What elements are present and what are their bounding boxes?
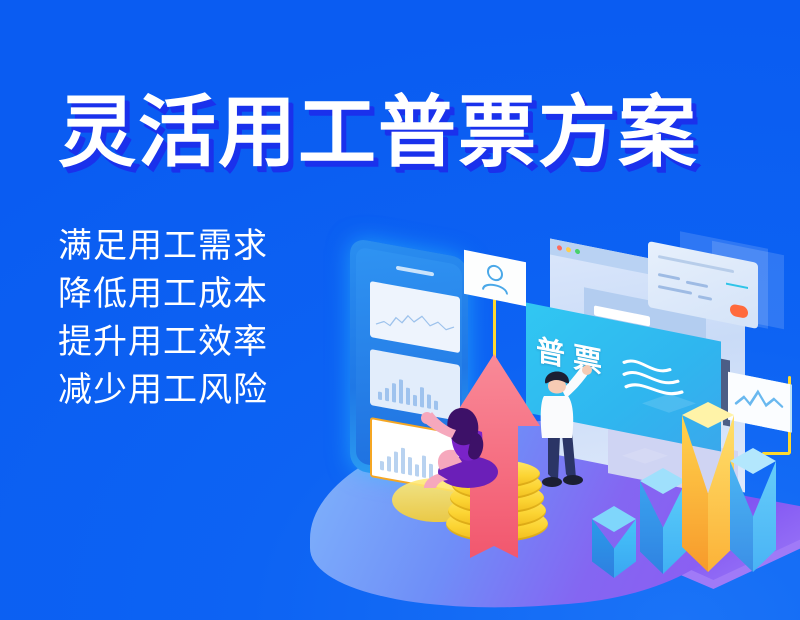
user-card [464,250,526,306]
credit-card-stripe [726,283,748,289]
isometric-illustration: 普票 [250,230,800,620]
line-chart-icon [376,304,454,344]
credit-card-line [658,255,734,273]
subtitle-line-1: 满足用工需求 [58,222,268,270]
credit-card-chip [730,303,748,319]
iso-bar-1 [592,506,636,578]
page-title: 灵活用工普票方案 [58,88,698,176]
subtitle-line-4: 减少用工风险 [58,366,268,414]
iso-bar-left [730,461,753,572]
subtitle-line-2: 降低用工成本 [58,270,268,318]
credit-card-line [698,295,712,301]
browser-close-dot [557,245,562,251]
person-standing-icon [532,360,590,490]
browser-minimize-dot [566,247,571,253]
iso-bar-4 [730,448,776,572]
iso-bar-left [682,415,708,572]
iso-bar-top [682,402,734,428]
iso-bar-right [753,461,776,572]
credit-card-line [658,273,680,280]
phone-speaker [396,266,434,277]
phone-card-line-chart [370,281,460,353]
iso-bar-3 [682,402,734,572]
iso-bar-top [730,448,776,474]
iso-bar-left [640,481,663,574]
credit-card-line [686,281,708,288]
iso-bar-2 [640,468,686,574]
user-icon [464,250,526,306]
browser-maximize-dot [575,249,580,255]
person-sitting-icon [422,398,508,494]
iso-bar-top [640,468,686,494]
credit-card-line [658,285,692,295]
subtitle-list: 满足用工需求 降低用工成本 提升用工效率 减少用工风险 [58,222,268,414]
subtitle-line-3: 提升用工效率 [58,318,268,366]
poster-canvas: 灵活用工普票方案 满足用工需求 降低用工成本 提升用工效率 减少用工风险 [0,0,800,620]
